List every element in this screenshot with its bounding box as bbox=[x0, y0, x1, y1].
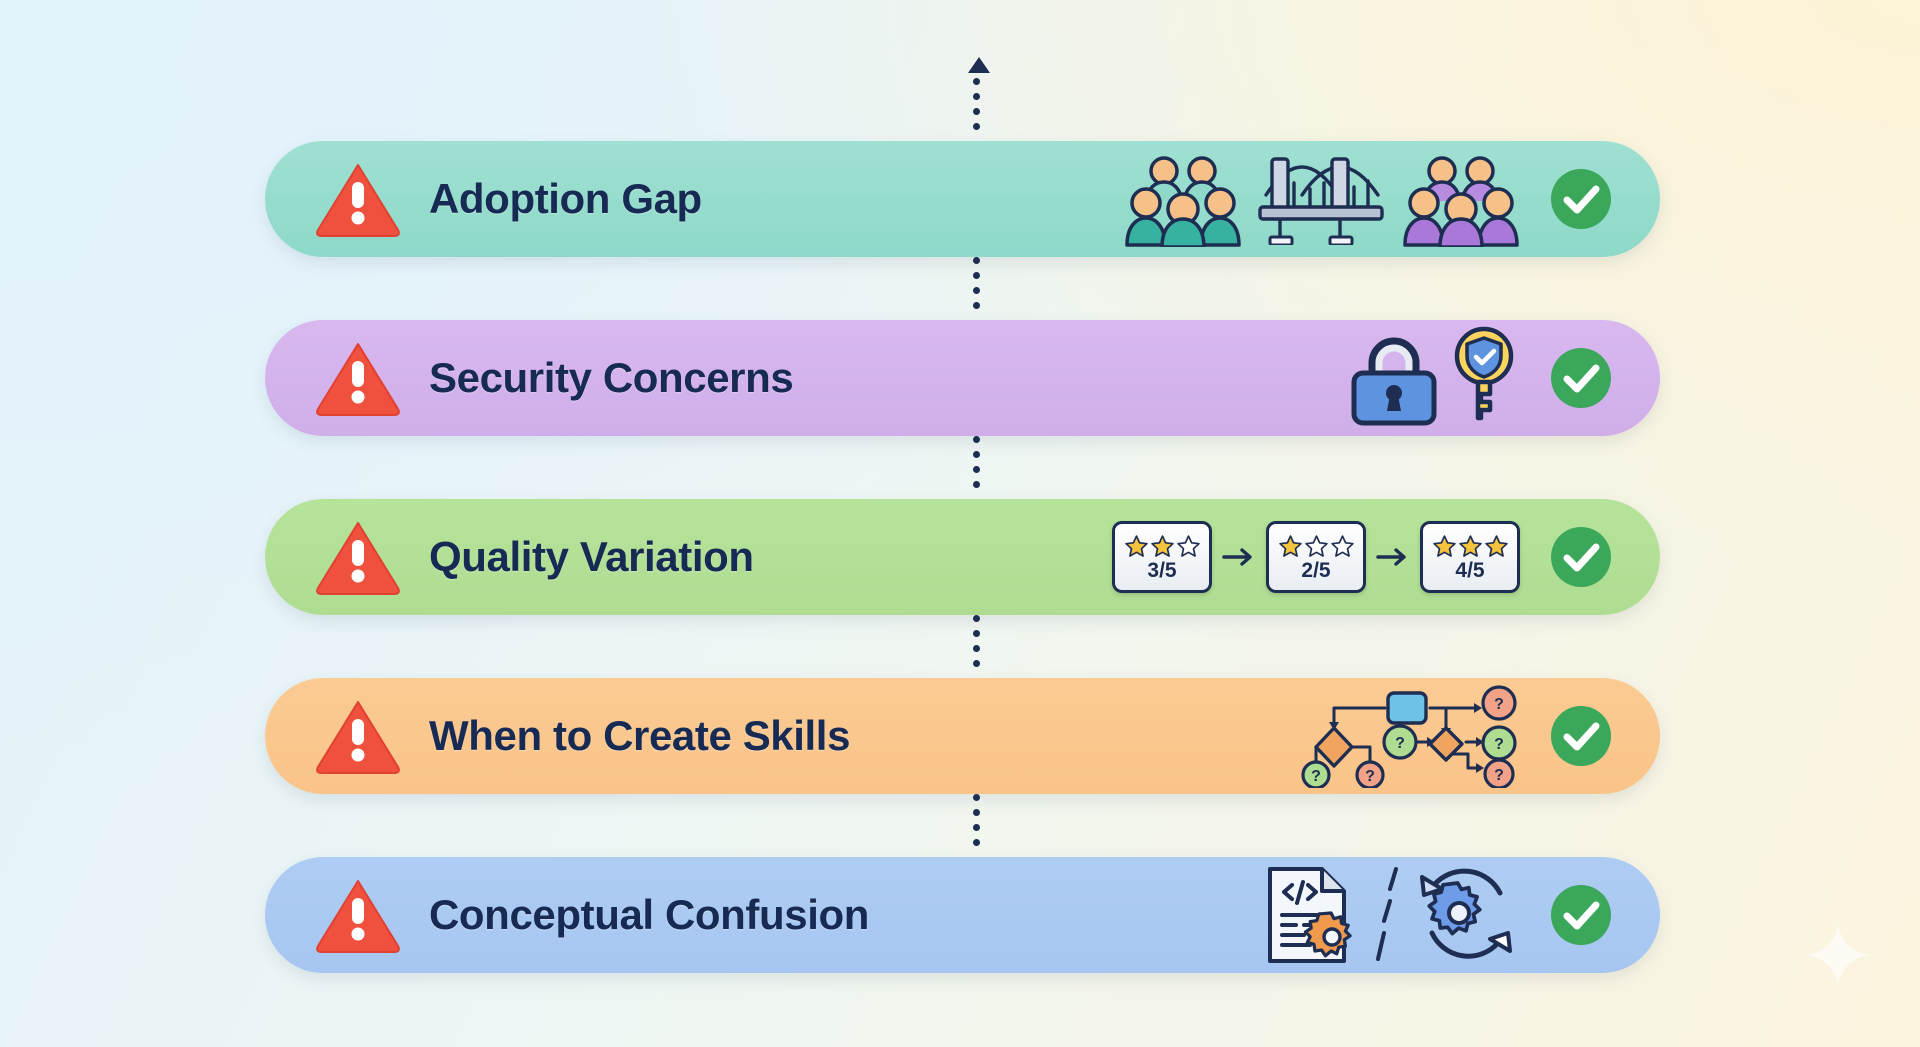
code-document-gear-icon bbox=[1262, 863, 1362, 967]
rating-score: 3/5 bbox=[1147, 560, 1176, 581]
arrow-right-icon bbox=[1222, 546, 1256, 568]
svg-text:?: ? bbox=[1395, 735, 1405, 752]
connector-arrow-top bbox=[968, 57, 984, 130]
row-quality-variation[interactable]: Quality Variation 3/5 bbox=[265, 499, 1660, 615]
rating-score: 4/5 bbox=[1455, 560, 1484, 581]
row-visual-ratings: 3/5 2/5 bbox=[1112, 499, 1520, 615]
bridge-icon bbox=[1258, 153, 1386, 245]
star-row bbox=[1278, 534, 1355, 559]
star-empty-icon bbox=[1176, 534, 1201, 559]
row-label: Quality Variation bbox=[429, 533, 754, 581]
star-empty-icon bbox=[1330, 534, 1355, 559]
row-visual-adoption-gap bbox=[1124, 141, 1520, 257]
star-empty-icon bbox=[1304, 534, 1329, 559]
flowchart-icon: ? ? ? ? ? ? bbox=[1300, 684, 1520, 788]
star-filled-icon bbox=[1124, 534, 1149, 559]
rating-card[interactable]: 3/5 bbox=[1112, 521, 1212, 593]
warning-triangle-icon bbox=[315, 697, 401, 775]
star-filled-icon bbox=[1484, 534, 1509, 559]
people-group-purple-icon bbox=[1402, 151, 1520, 247]
row-visual-flowchart: ? ? ? ? ? ? bbox=[1300, 678, 1520, 794]
row-conceptual-confusion[interactable]: Conceptual Confusion bbox=[265, 857, 1660, 973]
warning-triangle-icon bbox=[315, 876, 401, 954]
check-circle-icon bbox=[1550, 168, 1612, 230]
check-circle-icon bbox=[1550, 526, 1612, 588]
arrow-head-icon bbox=[968, 57, 990, 73]
row-visual-security bbox=[1346, 320, 1520, 436]
row-label: Conceptual Confusion bbox=[429, 891, 869, 939]
svg-text:?: ? bbox=[1494, 736, 1504, 753]
svg-text:?: ? bbox=[1494, 767, 1504, 784]
row-label: When to Create Skills bbox=[429, 712, 850, 760]
warning-triangle-icon bbox=[315, 160, 401, 238]
star-filled-icon bbox=[1458, 534, 1483, 559]
star-row bbox=[1432, 534, 1509, 559]
issues-stack: Adoption Gap bbox=[0, 0, 1920, 1047]
people-group-teal-icon bbox=[1124, 151, 1242, 247]
svg-text:?: ? bbox=[1311, 768, 1321, 785]
row-when-to-create-skills[interactable]: When to Create Skills bbox=[265, 678, 1660, 794]
row-security-concerns[interactable]: Security Concerns bbox=[265, 320, 1660, 436]
row-label: Adoption Gap bbox=[429, 175, 702, 223]
star-row bbox=[1124, 534, 1201, 559]
check-circle-icon bbox=[1550, 884, 1612, 946]
svg-text:?: ? bbox=[1365, 768, 1375, 785]
row-label: Security Concerns bbox=[429, 354, 793, 402]
padlock-icon bbox=[1346, 329, 1442, 427]
warning-triangle-icon bbox=[315, 339, 401, 417]
row-adoption-gap[interactable]: Adoption Gap bbox=[265, 141, 1660, 257]
dashed-divider-icon bbox=[1368, 863, 1408, 967]
rating-card[interactable]: 4/5 bbox=[1420, 521, 1520, 593]
row-visual-concept bbox=[1262, 857, 1520, 973]
rating-score: 2/5 bbox=[1301, 560, 1330, 581]
warning-triangle-icon bbox=[315, 518, 401, 596]
rating-card-list: 3/5 2/5 bbox=[1112, 521, 1520, 593]
svg-text:?: ? bbox=[1494, 696, 1504, 713]
star-filled-icon bbox=[1150, 534, 1175, 559]
key-shield-icon bbox=[1448, 326, 1520, 430]
star-filled-icon bbox=[1432, 534, 1457, 559]
arrow-right-icon bbox=[1376, 546, 1410, 568]
check-circle-icon bbox=[1550, 347, 1612, 409]
check-circle-icon bbox=[1550, 705, 1612, 767]
star-filled-icon bbox=[1278, 534, 1303, 559]
process-gear-cycle-icon bbox=[1414, 863, 1520, 967]
rating-card[interactable]: 2/5 bbox=[1266, 521, 1366, 593]
